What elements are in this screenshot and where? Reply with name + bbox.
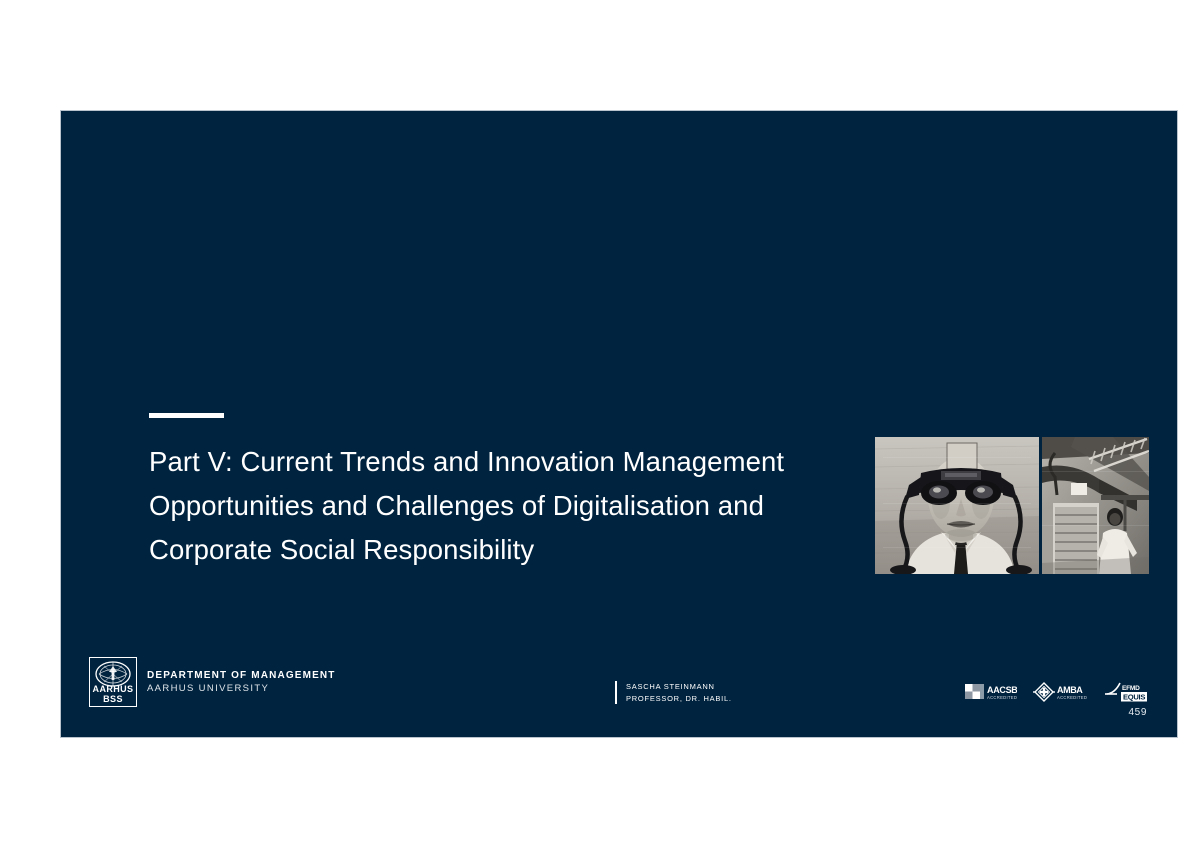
title-accent-rule (149, 413, 224, 418)
presenter-role: PROFESSOR, DR. HABIL. (626, 693, 732, 705)
page-number: 459 (1129, 707, 1148, 718)
svg-text:ACCREDITED: ACCREDITED (1057, 695, 1087, 700)
svg-text:AACSB: AACSB (987, 685, 1017, 695)
vr-headset-photo (875, 437, 1149, 574)
amba-accredited-logo: AMBA ACCREDITED (1033, 682, 1089, 702)
svg-text:ACCREDITED: ACCREDITED (987, 695, 1017, 700)
presenter-divider (615, 681, 617, 704)
presenter-text: SASCHA STEINMANN PROFESSOR, DR. HABIL. (626, 681, 732, 704)
equis-efmd-logo: EFMD EQUIS (1105, 681, 1149, 703)
subtitle-line-1: Opportunities and Challenges of Digitali… (149, 484, 879, 528)
aarhus-bss-logo: AARHUS BSS DEPARTMENT OF MANAGEMENT AARH… (89, 657, 336, 707)
aarhus-wordmark: AARHUS BSS (90, 685, 136, 704)
aarhus-logo-mark: AARHUS BSS (89, 657, 137, 707)
university-name: AARHUS UNIVERSITY (147, 682, 336, 695)
svg-text:EFMD: EFMD (1122, 685, 1140, 692)
presenter-block: SASCHA STEINMANN PROFESSOR, DR. HABIL. (615, 681, 732, 704)
department-name: DEPARTMENT OF MANAGEMENT (147, 669, 336, 682)
title-block: Part V: Current Trends and Innovation Ma… (149, 413, 879, 572)
svg-text:EQUIS: EQUIS (1123, 693, 1145, 702)
svg-text:AMBA: AMBA (1057, 685, 1083, 695)
aacsb-accredited-logo: AACSB ACCREDITED (965, 682, 1017, 702)
subtitle-line-2: Corporate Social Responsibility (149, 528, 879, 572)
slide-canvas: Part V: Current Trends and Innovation Ma… (60, 110, 1178, 738)
aarhus-logo-text: DEPARTMENT OF MANAGEMENT AARHUS UNIVERSI… (147, 669, 336, 695)
page-title: Part V: Current Trends and Innovation Ma… (149, 440, 879, 484)
slide-footer: AARHUS BSS DEPARTMENT OF MANAGEMENT AARH… (61, 651, 1177, 739)
aarhus-wordmark-line2: BSS (90, 695, 136, 705)
photo-illustration (875, 437, 1149, 574)
accreditation-logos: AACSB ACCREDITED AMBA ACCREDITED EFMD EQ… (965, 681, 1149, 703)
presenter-name: SASCHA STEINMANN (626, 681, 732, 693)
